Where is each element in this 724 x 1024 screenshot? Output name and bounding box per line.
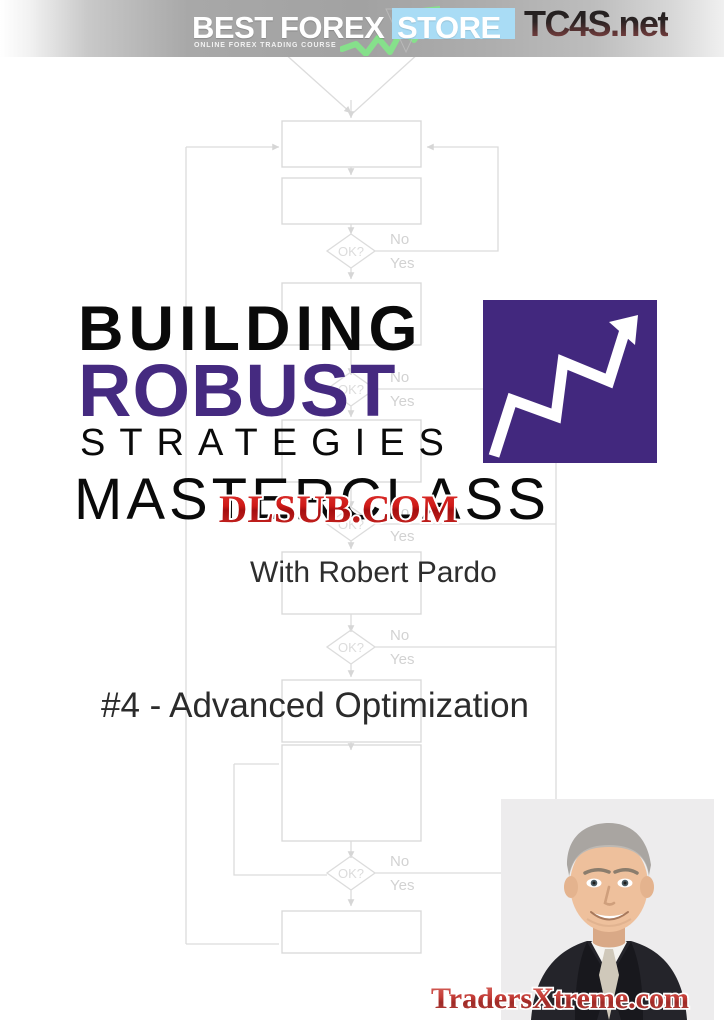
- branch-yes-label: Yes: [390, 255, 414, 272]
- decision-label: OK?: [338, 640, 364, 655]
- branch-no-label: No: [390, 231, 409, 248]
- site-logo-tc4s: TC4S.net: [524, 3, 668, 45]
- branch-yes-label: Yes: [390, 651, 414, 668]
- module-title: #4 - Advanced Optimization: [101, 686, 529, 726]
- branch-yes-label: Yes: [390, 877, 414, 894]
- banner-inner: BEST FOREX STORE ONLINE FOREX TRADING CO…: [0, 0, 724, 57]
- decision-label: OK?: [338, 244, 364, 259]
- top-banner: BEST FOREX STORE ONLINE FOREX TRADING CO…: [0, 0, 724, 57]
- brand-word-forex: FOREX: [280, 10, 384, 46]
- growth-arrow-logo: [483, 300, 657, 463]
- presenter-credit: With Robert Pardo: [250, 556, 497, 590]
- branch-no-label: No: [390, 853, 409, 870]
- watermark-dlsub: DLSUB.COM: [219, 487, 459, 532]
- title-line-robust: ROBUST: [78, 348, 396, 433]
- title-line-strategies: STRATEGIES: [80, 422, 458, 465]
- slide-canvas: OK? No Yes OK? No Yes OK? No Yes OK? No …: [0, 0, 724, 1024]
- watermark-tradersxtreme: TradersXtreme.com: [431, 982, 689, 1016]
- brand-word-best: BEST: [192, 10, 273, 46]
- brand-word-store: STORE: [397, 10, 501, 46]
- decision-label: OK?: [338, 866, 364, 881]
- banner-tagline: ONLINE FOREX TRADING COURSE: [194, 42, 337, 49]
- branch-no-label: No: [390, 627, 409, 644]
- uptrend-arrow-icon: [483, 300, 657, 463]
